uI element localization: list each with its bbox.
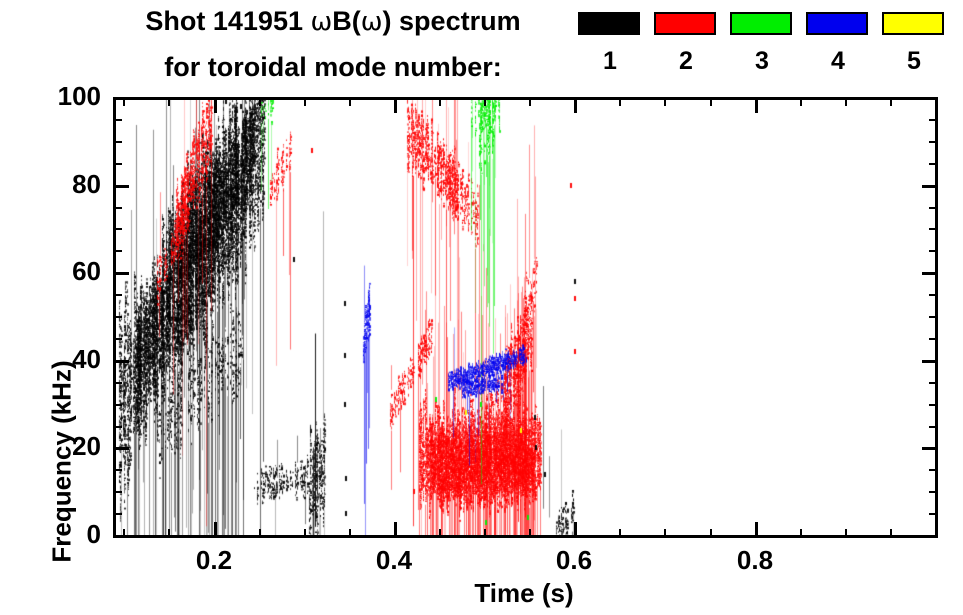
x-minor-tick-top [304, 97, 306, 106]
x-minor-tick-top [349, 97, 351, 106]
x-minor-tick-top [529, 97, 531, 106]
x-tick-label: 0.8 [715, 547, 795, 573]
y-minor-tick-right [929, 491, 938, 493]
x-major-tick [574, 522, 577, 538]
y-minor-tick-right [929, 228, 938, 230]
y-major-tick-right [922, 185, 938, 188]
y-minor-tick [113, 338, 122, 340]
y-minor-tick-right [929, 382, 938, 384]
y-minor-tick-right [929, 250, 938, 252]
y-minor-tick [113, 513, 122, 515]
spectrogram-canvas [113, 97, 935, 535]
x-minor-tick [800, 529, 802, 538]
x-minor-tick-top [800, 97, 802, 106]
y-minor-tick-right [929, 338, 938, 340]
y-minor-tick-right [929, 119, 938, 121]
x-minor-tick-top [484, 97, 486, 106]
y-major-tick-right [922, 97, 938, 100]
axis-frame-bottom [113, 535, 937, 538]
y-minor-tick [113, 119, 122, 121]
y-minor-tick-right [929, 469, 938, 471]
y-major-tick [113, 272, 129, 275]
axis-frame-top [113, 97, 937, 100]
y-minor-tick [113, 404, 122, 406]
y-minor-tick-right [929, 404, 938, 406]
plot-area: 0204060801000.20.40.60.8 Frequency (kHz)… [0, 0, 963, 615]
y-minor-tick [113, 469, 122, 471]
y-major-tick [113, 447, 129, 450]
y-minor-tick [113, 163, 122, 165]
x-axis-title: Time (s) [113, 578, 935, 609]
y-major-tick [113, 97, 129, 100]
x-major-tick [394, 522, 397, 538]
x-tick-label: 0.4 [354, 547, 434, 573]
y-minor-tick-right [929, 207, 938, 209]
y-minor-tick-right [929, 294, 938, 296]
x-minor-tick-top [710, 97, 712, 106]
y-minor-tick [113, 491, 122, 493]
x-minor-tick-top [845, 97, 847, 106]
y-major-tick-right [922, 272, 938, 275]
y-minor-tick [113, 250, 122, 252]
x-major-tick-top [394, 97, 397, 113]
y-minor-tick [113, 426, 122, 428]
y-minor-tick-right [929, 513, 938, 515]
x-minor-tick [890, 529, 892, 538]
x-major-tick [755, 522, 758, 538]
y-major-tick [113, 360, 129, 363]
x-minor-tick-top [259, 97, 261, 106]
y-major-tick-right [922, 535, 938, 538]
x-minor-tick-top [439, 97, 441, 106]
x-minor-tick [529, 529, 531, 538]
y-minor-tick-right [929, 141, 938, 143]
x-minor-tick [259, 529, 261, 538]
y-major-tick [113, 185, 129, 188]
x-minor-tick [710, 529, 712, 538]
y-major-tick-right [922, 360, 938, 363]
x-minor-tick-top [664, 97, 666, 106]
x-tick-label: 0.6 [534, 547, 614, 573]
y-axis-title-holder: Frequency (kHz) [22, 166, 52, 466]
y-minor-tick [113, 141, 122, 143]
y-minor-tick-right [929, 163, 938, 165]
x-minor-tick-top [123, 97, 125, 106]
x-minor-tick [619, 529, 621, 538]
x-minor-tick [484, 529, 486, 538]
x-major-tick-top [574, 97, 577, 113]
x-minor-tick-top [168, 97, 170, 106]
x-minor-tick-top [890, 97, 892, 106]
x-minor-tick [168, 529, 170, 538]
y-axis-title: Frequency (kHz) [47, 312, 78, 612]
x-minor-tick [439, 529, 441, 538]
x-major-tick-top [755, 97, 758, 113]
x-major-tick-top [214, 97, 217, 113]
spectrogram-figure: Shot 141951 ωB(ω) spectrum for toroidal … [0, 0, 963, 615]
x-tick-label: 0.2 [174, 547, 254, 573]
x-minor-tick [304, 529, 306, 538]
y-minor-tick-right [929, 316, 938, 318]
y-tick-label: 100 [41, 83, 101, 109]
y-minor-tick [113, 207, 122, 209]
y-minor-tick [113, 228, 122, 230]
x-minor-tick [664, 529, 666, 538]
x-minor-tick-top [619, 97, 621, 106]
x-minor-tick [349, 529, 351, 538]
y-major-tick [113, 535, 129, 538]
y-minor-tick [113, 294, 122, 296]
y-major-tick-right [922, 447, 938, 450]
y-minor-tick [113, 382, 122, 384]
x-minor-tick [845, 529, 847, 538]
y-minor-tick [113, 316, 122, 318]
x-major-tick [214, 522, 217, 538]
x-minor-tick [123, 529, 125, 538]
y-minor-tick-right [929, 426, 938, 428]
